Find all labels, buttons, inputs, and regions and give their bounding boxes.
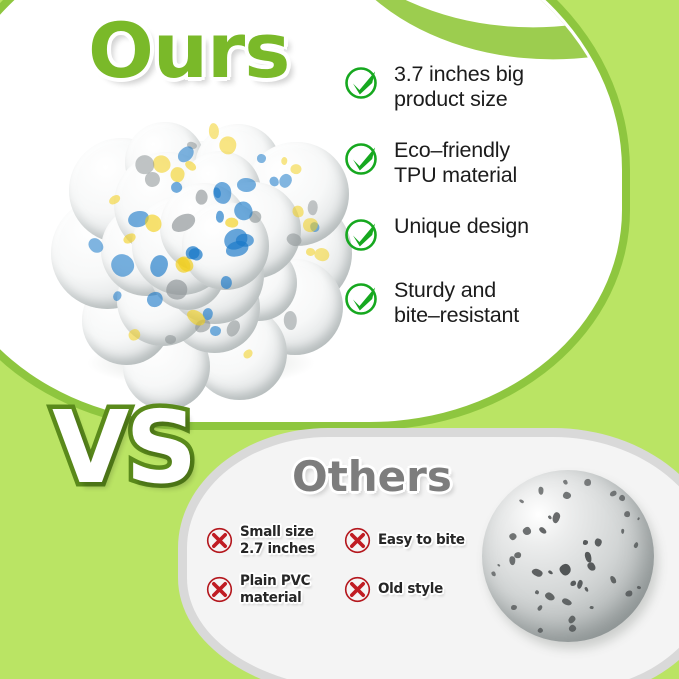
gray-ball-speckle xyxy=(583,478,591,486)
drawback-item: Small size 2.7 inches xyxy=(206,524,344,557)
gray-ball-speckle xyxy=(513,551,521,558)
feature-item: Unique design xyxy=(344,214,644,252)
drawback-label: Small size 2.7 inches xyxy=(240,524,315,557)
gray-ball-speckle xyxy=(547,515,552,520)
drawback-item: Plain PVC material xyxy=(206,573,344,606)
check-circle-icon xyxy=(344,216,380,252)
gray-ball-speckle xyxy=(519,499,525,504)
comparison-infographic: Ours 3.7 inches big product size Eco–f xyxy=(0,0,679,679)
drawback-label: Easy to bite xyxy=(378,532,465,549)
feature-label: Eco–friendly TPU material xyxy=(394,138,517,188)
ours-title: Ours xyxy=(88,6,289,95)
ball-speckle xyxy=(306,247,316,255)
feature-label: Sturdy and bite–resistant xyxy=(394,278,519,328)
feature-item: Sturdy and bite–resistant xyxy=(344,278,644,328)
ball-speckle xyxy=(290,164,302,174)
ours-feature-list: 3.7 inches big product size Eco–friendly… xyxy=(344,62,644,354)
gray-ball-speckle xyxy=(538,526,547,535)
gray-ball-speckle xyxy=(621,529,624,535)
ball-speckle xyxy=(208,123,219,140)
gray-ball-speckle xyxy=(562,480,568,486)
gray-ball-speckle xyxy=(538,487,543,495)
check-circle-icon xyxy=(344,280,380,316)
drawback-label: Old style xyxy=(378,581,443,598)
feature-item: Eco–friendly TPU material xyxy=(344,138,644,188)
ball-speckle xyxy=(164,335,176,344)
cross-circle-icon xyxy=(344,576,371,603)
drawback-item: Easy to bite xyxy=(344,524,496,557)
gray-ball-speckle xyxy=(583,540,589,545)
feature-label: Unique design xyxy=(394,214,529,239)
others-title: Others xyxy=(292,452,452,501)
gray-ball-speckle xyxy=(497,563,501,567)
others-product-image xyxy=(482,470,654,642)
gray-ball-speckle xyxy=(590,606,594,610)
gray-ball-speckle xyxy=(609,489,617,496)
ball-speckle xyxy=(225,218,239,228)
gray-ball-speckle xyxy=(568,623,578,633)
gray-ball-speckle xyxy=(569,580,577,587)
ours-product-image xyxy=(58,108,348,408)
feature-item: 3.7 inches big product size xyxy=(344,62,644,112)
gray-ball-speckle xyxy=(637,517,640,521)
cross-circle-icon xyxy=(206,576,233,603)
gray-ball-speckle xyxy=(586,561,597,572)
versus-label: VS xyxy=(52,398,193,498)
gray-ball-speckle xyxy=(633,541,639,548)
drawback-label: Plain PVC material xyxy=(240,573,310,606)
check-circle-icon xyxy=(344,140,380,176)
ball-speckle xyxy=(257,153,266,162)
others-drawback-list: Small size 2.7 inches Easy to bite Plain… xyxy=(206,524,496,606)
gray-ball-speckle xyxy=(567,614,577,624)
gray-ball-speckle xyxy=(562,597,573,606)
gray-ball-speckle xyxy=(558,562,574,578)
gray-ball-speckle xyxy=(522,526,533,537)
gray-ball-speckle xyxy=(531,567,544,578)
gray-ball-speckle xyxy=(508,532,518,542)
gray-ball-speckle xyxy=(537,604,544,611)
gray-ball-speckle xyxy=(544,591,556,602)
gray-ball-speckle xyxy=(511,604,517,609)
gray-ball-speckle xyxy=(537,627,544,634)
drawback-item: Old style xyxy=(344,573,496,606)
gray-ball-speckle xyxy=(618,494,625,501)
gray-ball-speckle xyxy=(584,551,592,563)
cross-circle-icon xyxy=(206,527,233,554)
feature-label: 3.7 inches big product size xyxy=(394,62,524,112)
gray-ball-speckle xyxy=(551,511,561,523)
gray-ball-speckle xyxy=(575,579,583,589)
gray-ball-speckle xyxy=(637,585,641,589)
ball-speckle xyxy=(283,310,297,330)
cross-circle-icon xyxy=(344,527,371,554)
ball-speckle xyxy=(235,233,253,247)
ball-speckle xyxy=(210,326,221,336)
gray-ball-speckle xyxy=(594,538,603,547)
check-circle-icon xyxy=(344,64,380,100)
gray-ball-speckle xyxy=(534,589,539,594)
gray-ball-speckle xyxy=(624,591,633,598)
gray-ball-speckle xyxy=(584,587,589,593)
gray-ball-speckle xyxy=(548,570,554,576)
gray-ball-speckle xyxy=(623,510,630,517)
gray-ball-speckle xyxy=(609,574,617,584)
gray-ball-speckle xyxy=(562,490,572,499)
